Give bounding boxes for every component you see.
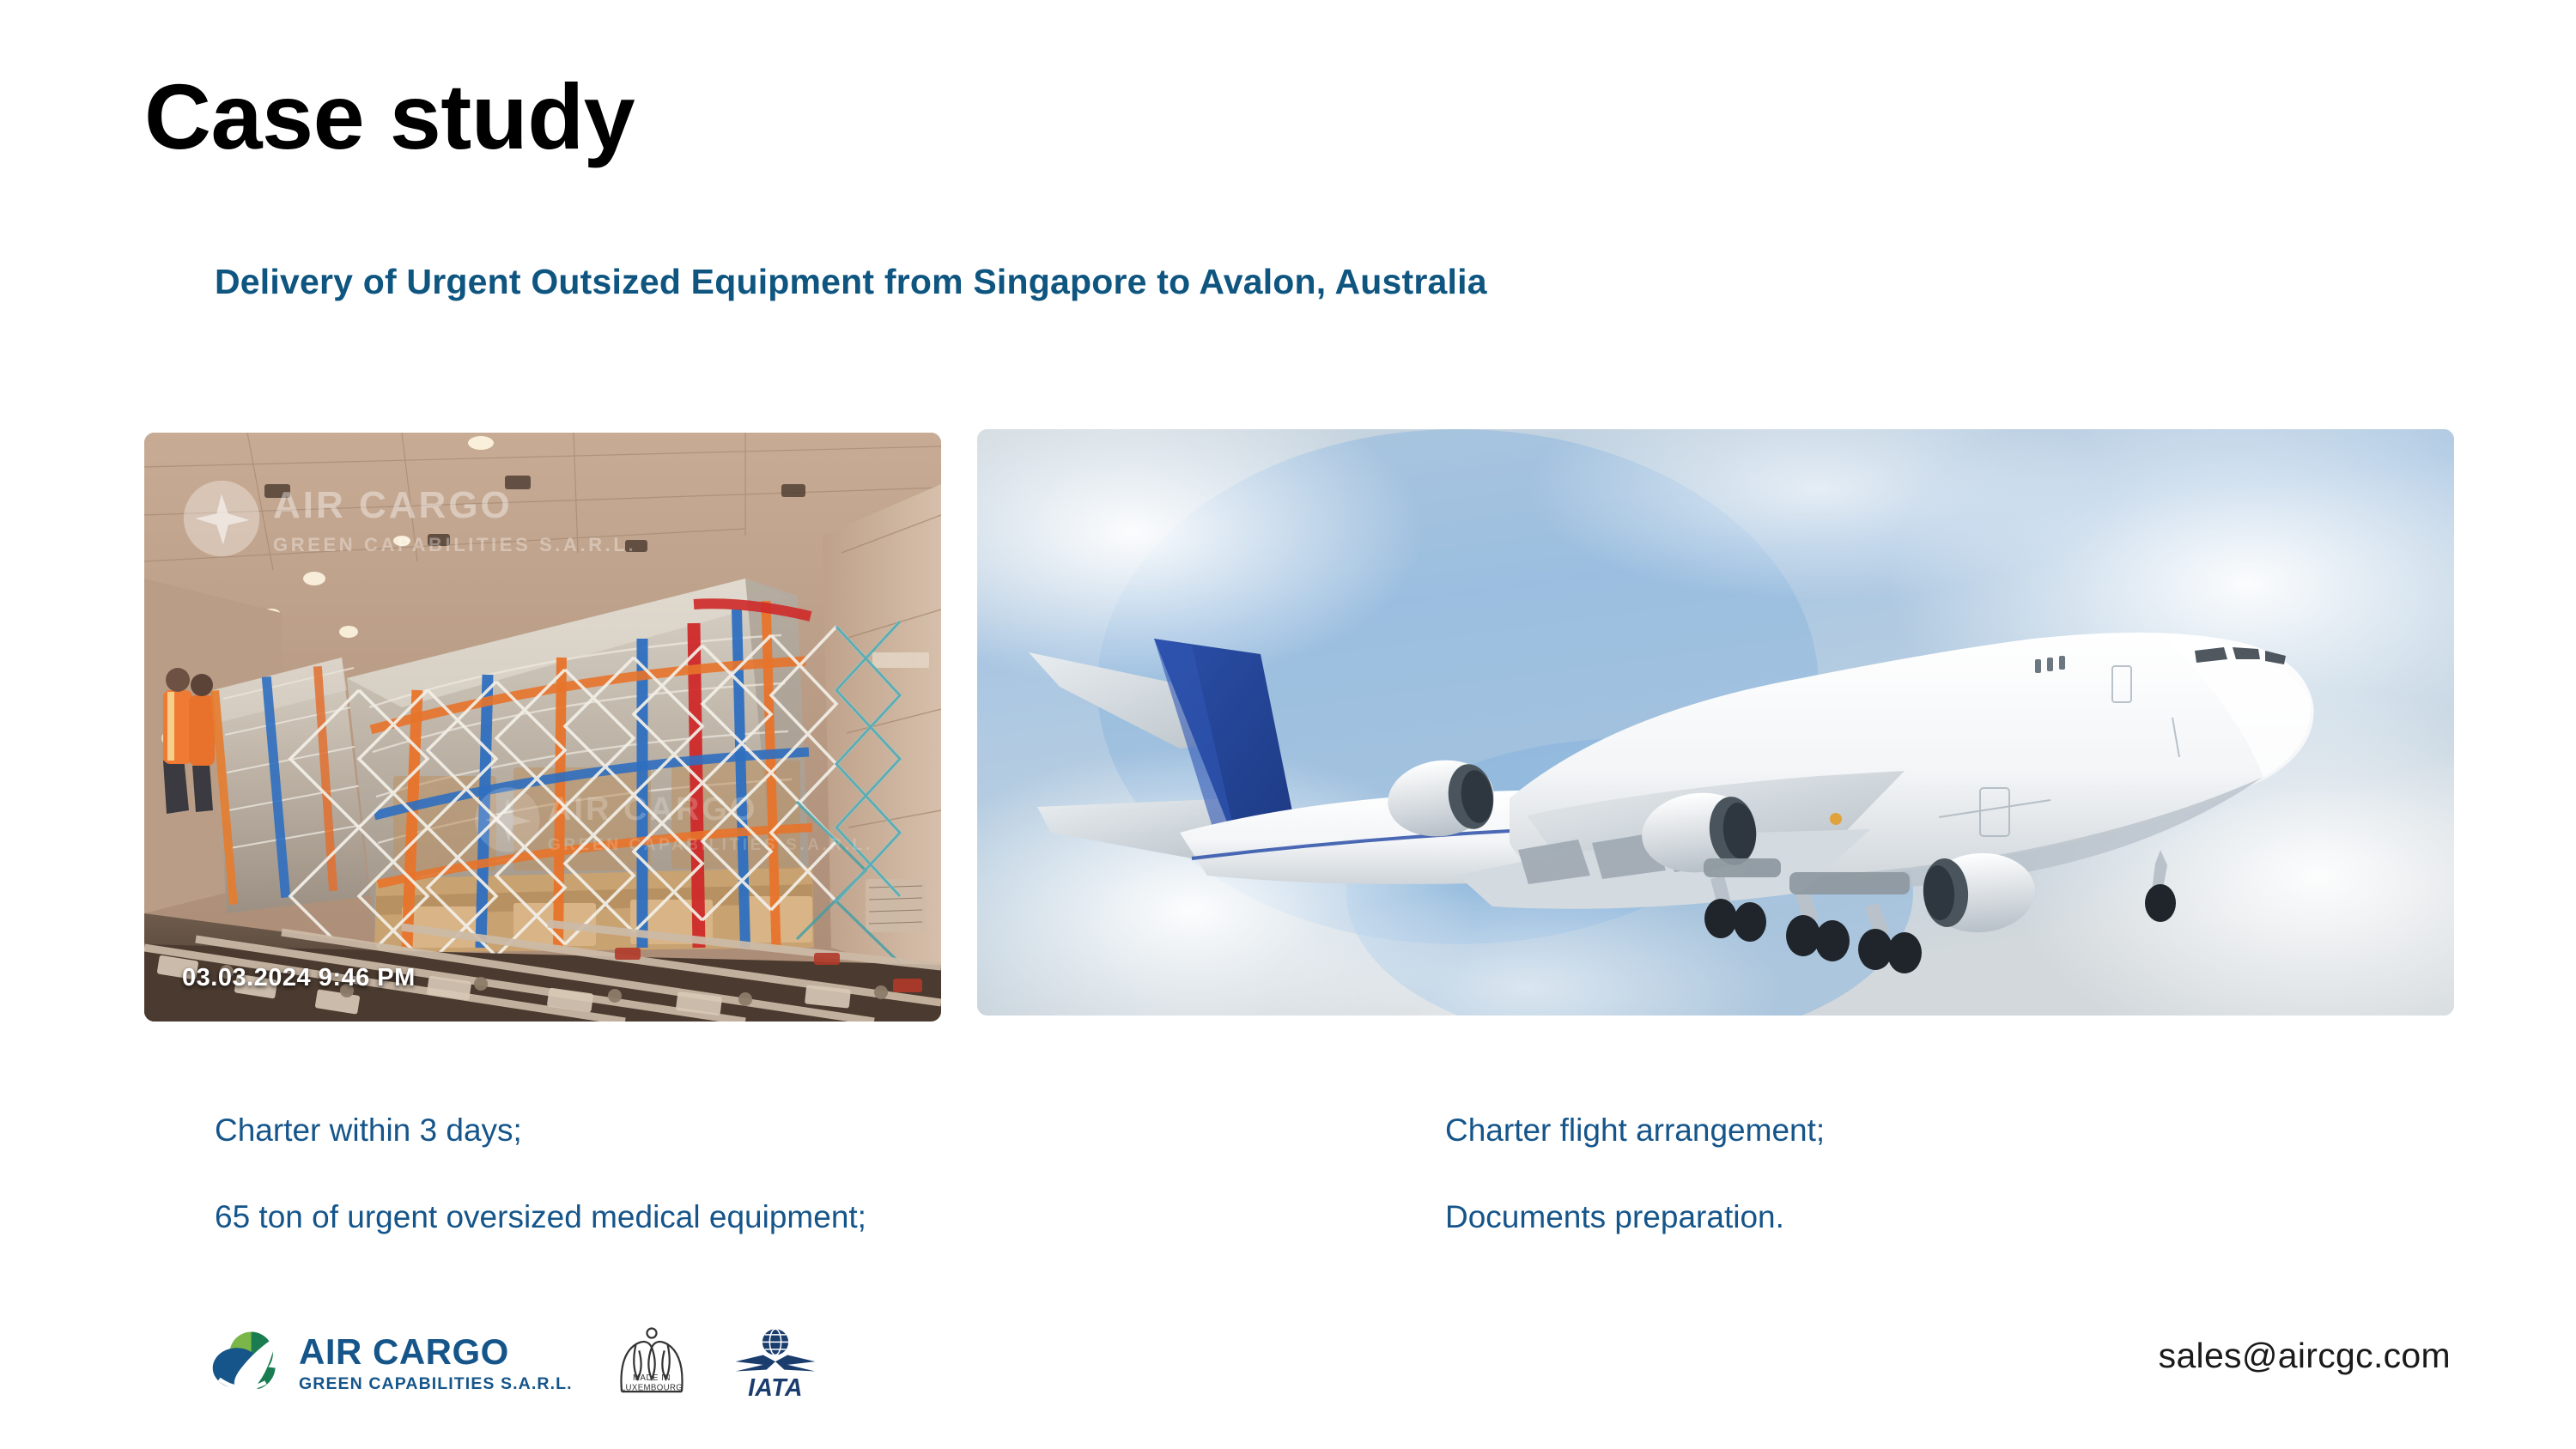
made-in-line1: MADE IN (633, 1373, 671, 1383)
brand-tagline: GREEN CAPABILITIES S.A.R.L. (299, 1376, 573, 1393)
cargo-hold-photo: AIR CARGO GREEN CAPABILITIES S.A.R.L. AI… (144, 433, 941, 1022)
slide-canvas: Case study Delivery of Urgent Outsized E… (0, 0, 2576, 1449)
contact-email[interactable]: sales@aircgc.com (2159, 1336, 2451, 1376)
aircraft-photo-illustration (977, 429, 2454, 1016)
aircraft-photo (977, 429, 2454, 1016)
iata-logo-icon: IATA (731, 1325, 820, 1401)
bullet-right-1: Charter flight arrangement; (1445, 1112, 1825, 1149)
bullet-left-1: Charter within 3 days; (215, 1112, 522, 1149)
bullet-right-2: Documents preparation. (1445, 1198, 1784, 1236)
made-in-line2: LUXEMBOURG (620, 1383, 682, 1392)
bullet-left-2: 65 ton of urgent oversized medical equip… (215, 1198, 866, 1236)
iata-wordmark: IATA (748, 1374, 803, 1401)
air-cargo-mark-icon (206, 1326, 287, 1400)
air-cargo-logo: AIR CARGO GREEN CAPABILITIES S.A.R.L. (206, 1326, 573, 1400)
cargo-photo-illustration (144, 433, 941, 1022)
made-in-luxembourg-icon: MADE IN LUXEMBOURG (612, 1324, 691, 1403)
footer-logo-strip: AIR CARGO GREEN CAPABILITIES S.A.R.L. MA… (206, 1315, 820, 1411)
air-cargo-wordmark: AIR CARGO GREEN CAPABILITIES S.A.R.L. (299, 1334, 573, 1393)
photo-timestamp: 03.03.2024 9:46 PM (182, 964, 416, 992)
slide-subtitle: Delivery of Urgent Outsized Equipment fr… (215, 260, 1487, 304)
brand-name: AIR CARGO (299, 1334, 573, 1370)
page-title: Case study (144, 67, 635, 167)
